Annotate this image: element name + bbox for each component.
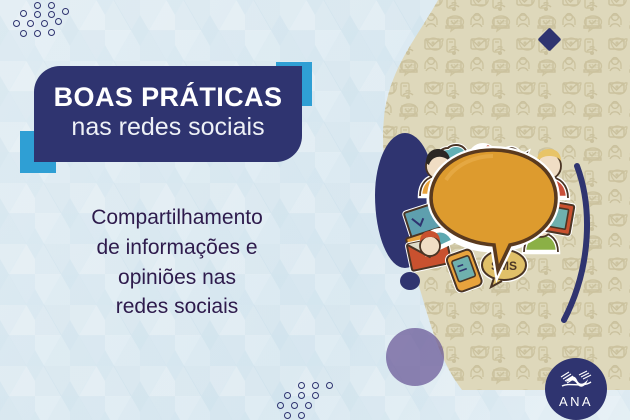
page-title: BOAS PRÁTICAS: [54, 83, 283, 111]
wave-icon: [558, 369, 594, 393]
description-line-2: de informações e: [22, 233, 332, 263]
social-media-illustration: SMS: [398, 118, 588, 293]
description-text: Compartilhamento de informações e opiniõ…: [22, 203, 332, 322]
ana-logo: ANA: [545, 358, 607, 420]
description-line-3: opiniões nas: [22, 263, 332, 293]
purple-translucent-circle: [386, 328, 444, 386]
description-line-4: redes sociais: [22, 292, 332, 322]
smartphone-icon: [446, 248, 483, 293]
ana-logo-text: ANA: [559, 394, 593, 409]
poster-canvas: SMS: [0, 0, 630, 420]
dot-cluster-top-left: [8, 2, 78, 42]
title-plaque: BOAS PRÁTICAS nas redes sociais: [34, 66, 302, 162]
page-subtitle: nas redes sociais: [71, 113, 264, 142]
description-line-1: Compartilhamento: [22, 203, 332, 233]
dot-cluster-bottom-center: [272, 382, 342, 420]
